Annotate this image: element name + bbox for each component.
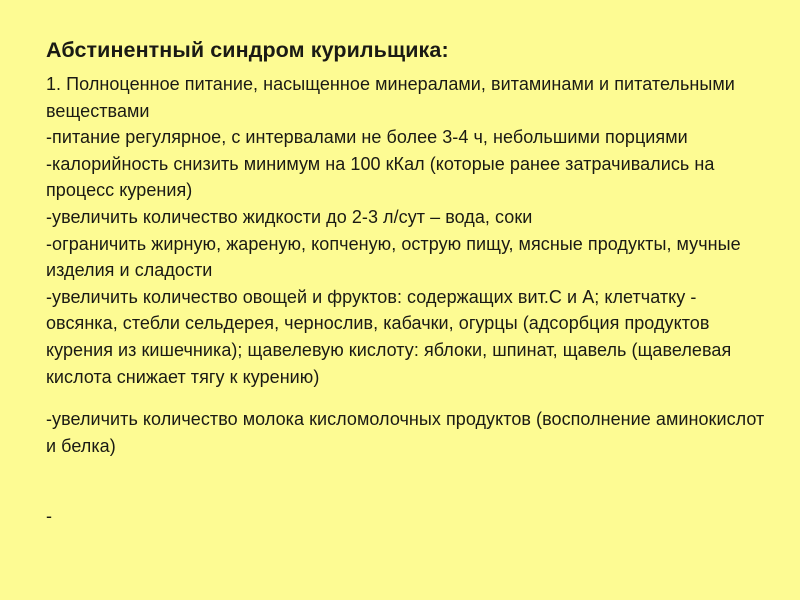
slide-canvas: Абстинентный синдром курильщика: 1. Полн… [0, 0, 800, 600]
list-item: -калорийность снизить минимум на 100 кКа… [46, 151, 770, 204]
list-item: 1. Полноценное питание, насыщенное минер… [46, 71, 770, 124]
list-item: -увеличить количество овощей и фруктов: … [46, 284, 770, 390]
list-item: -увеличить количество жидкости до 2-3 л/… [46, 204, 770, 231]
slide-content: Абстинентный синдром курильщика: 1. Полн… [46, 36, 770, 530]
list-item: -питание регулярное, с интервалами не бо… [46, 124, 770, 151]
slide-body: 1. Полноценное питание, насыщенное минер… [46, 71, 770, 530]
list-item: -ограничить жирную, жареную, копченую, о… [46, 231, 770, 284]
list-item: -увеличить количество молока кисломолочн… [46, 406, 770, 459]
list-item: - [46, 503, 770, 530]
page-title: Абстинентный синдром курильщика: [46, 36, 770, 64]
